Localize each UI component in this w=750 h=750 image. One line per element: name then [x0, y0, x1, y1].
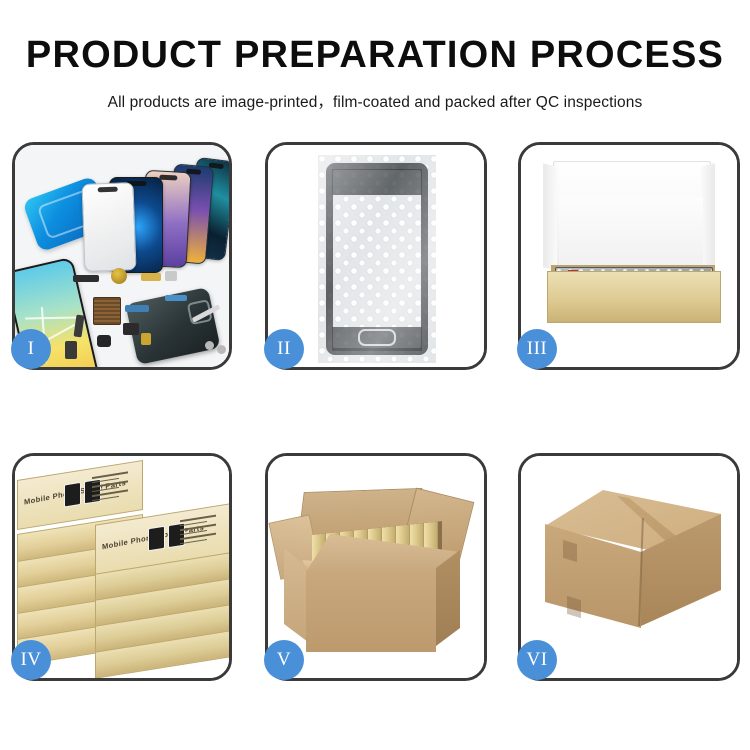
bubble-wrapped-screen	[318, 155, 436, 363]
process-steps-grid: I II	[0, 140, 750, 685]
step-badge-4: IV	[11, 640, 51, 680]
step-badge-5: V	[264, 640, 304, 680]
step-panel-5: V	[265, 453, 487, 681]
product-preparation-page: PRODUCT PREPARATION PROCESS All products…	[0, 0, 750, 750]
lid-fold-left	[543, 163, 557, 270]
kraft-box-base	[547, 271, 721, 323]
chip-part	[93, 297, 121, 325]
kraft-box-stack: Mobile Phone Spare Parts Mobile Phone Sp…	[15, 478, 229, 664]
notch-icon	[159, 175, 177, 181]
carton-notch	[563, 540, 577, 562]
step-badge-1: I	[11, 329, 51, 369]
step-panel-4: Mobile Phone Spare Parts Mobile Phone Sp…	[12, 453, 232, 681]
camera-part	[97, 335, 111, 347]
plastic-sheen	[318, 155, 436, 363]
page-subtitle: All products are image-printed，film-coat…	[0, 90, 750, 112]
step-badge-6: VI	[517, 640, 557, 680]
phone-screen-1	[81, 182, 136, 272]
step-5-image	[268, 456, 484, 678]
page-title: PRODUCT PREPARATION PROCESS	[0, 36, 750, 74]
step-4-image: Mobile Phone Spare Parts Mobile Phone Sp…	[15, 456, 229, 678]
flex-cable-part	[125, 305, 149, 312]
speaker-part	[111, 268, 127, 284]
notch-icon	[98, 187, 118, 193]
spare-part	[73, 275, 99, 282]
box-spec-lines	[92, 470, 136, 507]
step-badge-3: III	[517, 329, 557, 369]
carton-notch	[567, 596, 581, 618]
spare-part	[165, 271, 177, 281]
spare-part	[141, 333, 151, 345]
phone-graphic	[64, 482, 81, 508]
box-spec-lines	[180, 513, 224, 550]
screw-part	[217, 345, 226, 354]
step-6-image	[521, 456, 737, 678]
step-3-image	[521, 145, 737, 367]
step-badge-2: II	[264, 329, 304, 369]
step-panel-6: VI	[518, 453, 740, 681]
spare-part	[141, 273, 161, 281]
flex-cable-part	[165, 295, 187, 301]
spare-part	[123, 323, 139, 335]
step-panel-3: III	[518, 142, 740, 370]
foam-padding	[559, 197, 703, 271]
crack-line	[25, 317, 77, 319]
step-1-image	[15, 145, 229, 367]
carton-front-face	[306, 570, 436, 652]
screw-part	[205, 341, 214, 350]
step-panel-2: II	[265, 142, 487, 370]
phone-graphic	[148, 526, 165, 552]
page-header: PRODUCT PREPARATION PROCESS All products…	[0, 0, 750, 112]
spare-part	[65, 341, 77, 359]
step-panel-1: I	[12, 142, 232, 370]
step-2-image	[268, 145, 484, 367]
lid-fold-right	[701, 163, 715, 270]
